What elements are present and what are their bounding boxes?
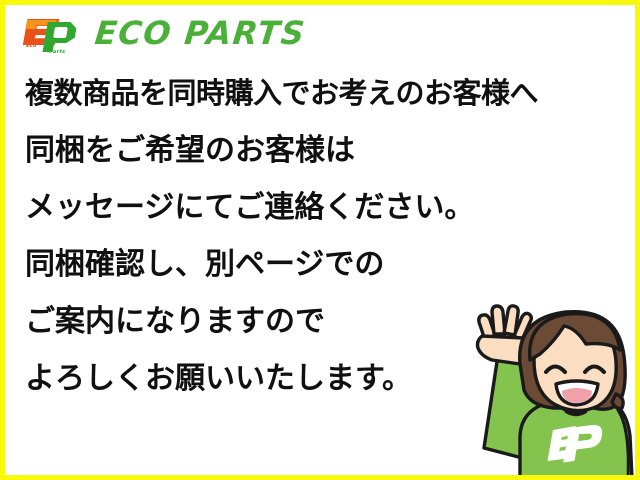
- message-line-3: メッセージにてご連絡ください。: [5, 179, 635, 236]
- logo-mark-bottom-label: Parts: [48, 49, 65, 55]
- waving-woman-illustration: [458, 298, 638, 478]
- message-line-1: 複数商品を同時購入でお考えのお客様へ: [5, 65, 635, 122]
- message-line-4: 同梱確認し、別ページでの: [5, 236, 635, 293]
- message-line-2: 同梱をご希望のお客様は: [5, 122, 635, 179]
- logo-mark-top-label: Eco: [25, 43, 37, 49]
- banner-header: Eco Parts ECO PARTS: [5, 5, 635, 60]
- eco-parts-notice-banner: Eco Parts ECO PARTS 複数商品を同時購入でお考えのお客様へ 同…: [0, 0, 640, 480]
- eco-parts-logo-icon: Eco Parts: [23, 13, 85, 53]
- brand-wordmark: ECO PARTS: [93, 17, 307, 49]
- logo-p-counter: [53, 27, 68, 38]
